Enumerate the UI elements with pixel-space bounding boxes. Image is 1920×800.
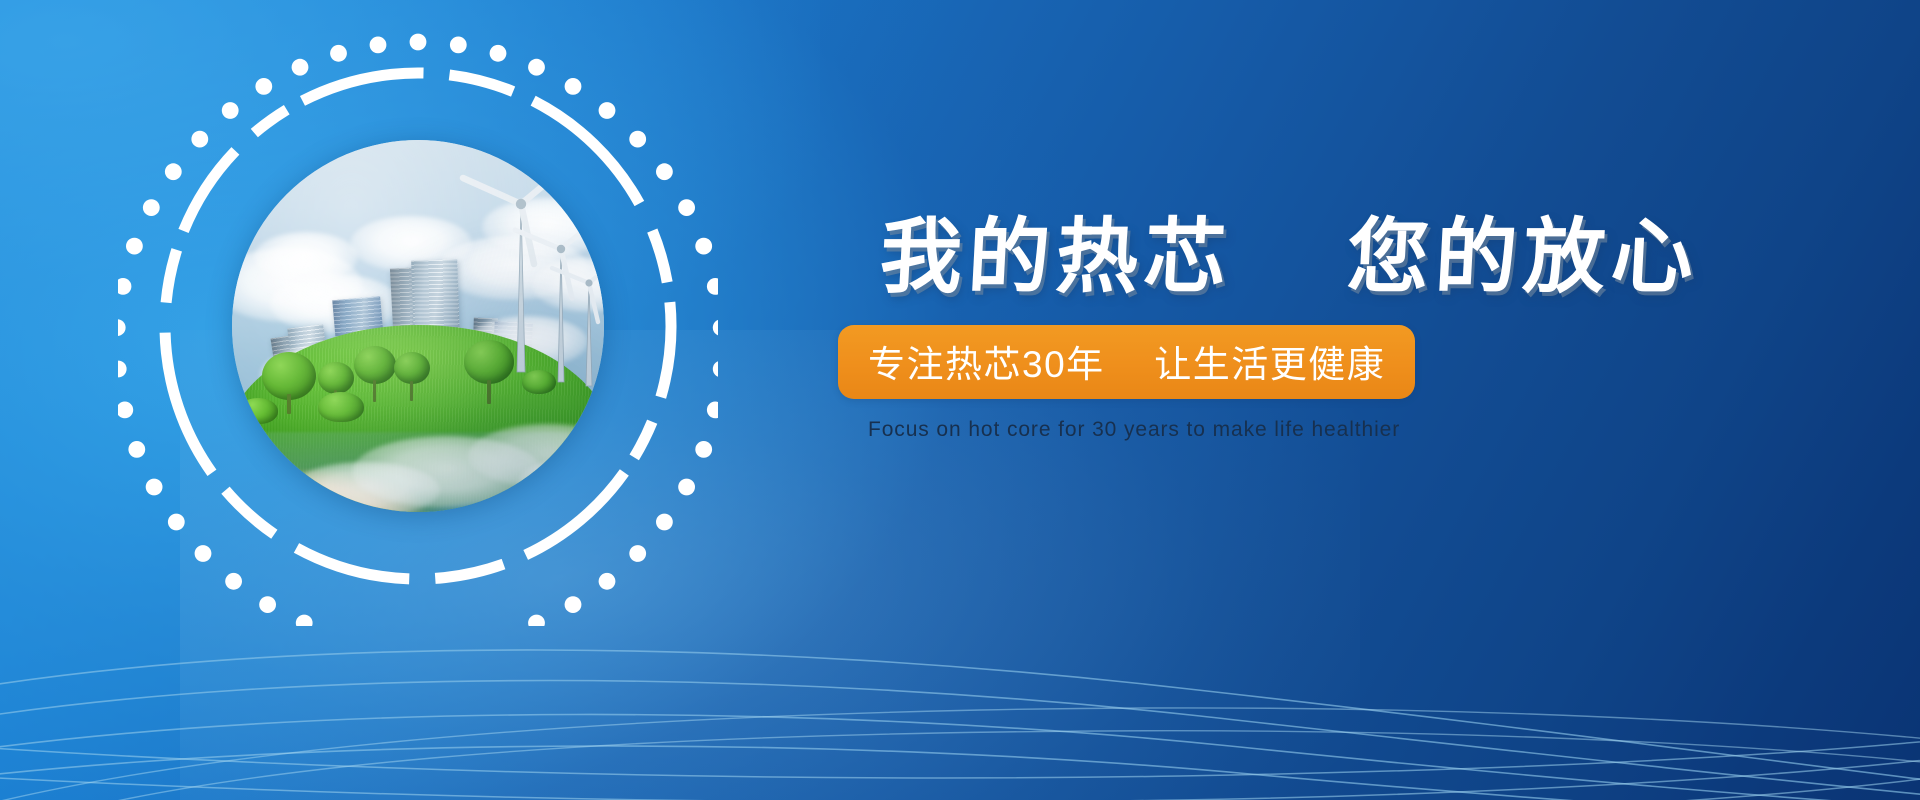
globe-emblem (118, 26, 718, 626)
headline-part-2: 您的放心 (1345, 210, 1702, 305)
hero-copy: 我的热芯 您的放心 专注热芯30年 让生活更健康 Focus on hot co… (880, 214, 1640, 442)
hero-banner: 我的热芯 您的放心 专注热芯30年 让生活更健康 Focus on hot co… (0, 0, 1920, 800)
wind-turbine-icon (463, 170, 562, 372)
earth-globe-image (232, 140, 604, 512)
badge-text-right: 让生活更健康 (1154, 344, 1385, 385)
tagline-badge: 专注热芯30年 让生活更健康 (838, 325, 1415, 399)
headline-part-1: 我的热芯 (878, 210, 1235, 305)
cloud-shape (290, 462, 440, 512)
badge-text-left: 专注热芯30年 (868, 344, 1105, 385)
page-headline: 我的热芯 您的放心 (878, 214, 1643, 303)
english-subtitle: Focus on hot core for 30 years to make l… (868, 418, 1640, 442)
